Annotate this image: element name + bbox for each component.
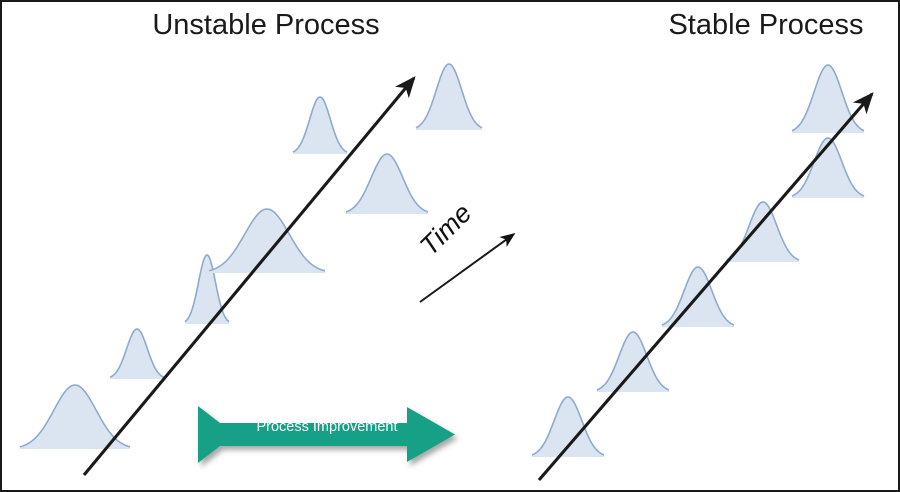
process-improvement-arrow xyxy=(198,406,455,463)
panel-title-stable: Stable Process xyxy=(576,9,900,42)
stable-process-curve-group xyxy=(532,65,864,457)
distribution-curve-fill xyxy=(110,329,164,379)
process-distribution-figure xyxy=(2,2,900,492)
unstable-process-curve-group xyxy=(20,64,482,449)
distribution-curve-fill xyxy=(346,154,428,214)
time-arrow-unstable xyxy=(84,78,414,475)
distribution-curve-fill xyxy=(293,97,347,154)
distribution-curve-fill xyxy=(416,64,482,130)
panel-title-unstable: Unstable Process xyxy=(76,9,456,42)
diagram-canvas: Unstable Process Stable Process Time Pro… xyxy=(0,0,900,492)
distribution-curve-fill xyxy=(727,202,799,262)
distribution-curve-fill xyxy=(792,65,864,133)
distribution-curve-fill xyxy=(209,209,325,273)
time-arrow-stable xyxy=(539,94,872,480)
